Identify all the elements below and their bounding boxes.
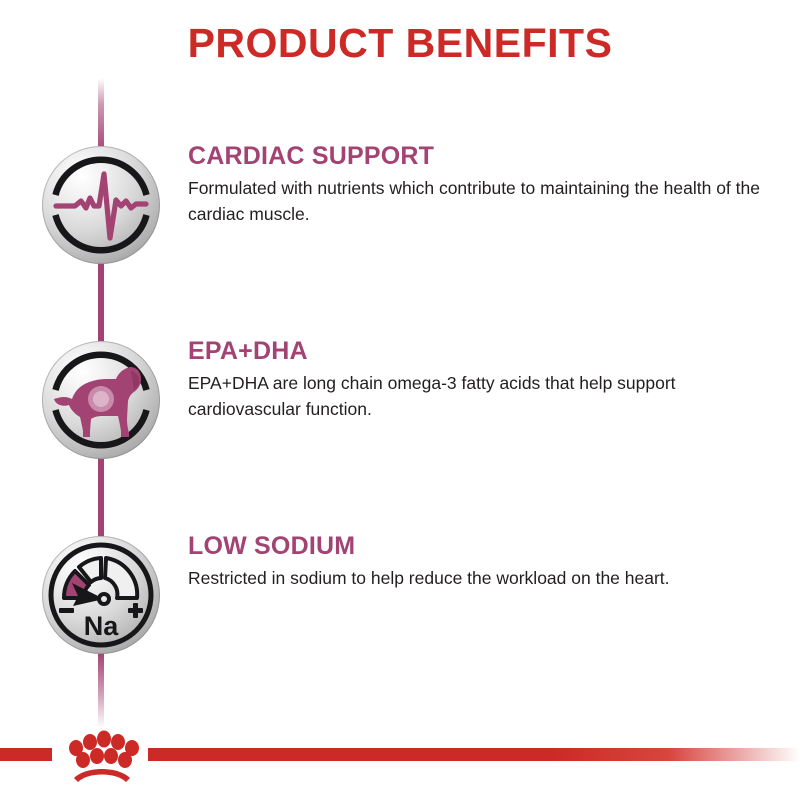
ecg-heartbeat-icon [42,146,160,264]
benefit-text-cardiac-support: CARDIAC SUPPORT Formulated with nutrient… [188,143,788,227]
benefit-item-cardiac-support: CARDIAC SUPPORT Formulated with nutrient… [0,143,800,273]
benefit-body: Formulated with nutrients which contribu… [188,176,782,227]
sodium-symbol-label: Na [84,611,119,641]
brand-bar-left-segment [0,748,52,761]
benefit-heading: LOW SODIUM [188,533,788,559]
page-title: PRODUCT BENEFITS [0,20,800,67]
benefit-heading: EPA+DHA [188,338,788,364]
benefit-text-epa-dha: EPA+DHA EPA+DHA are long chain omega-3 f… [188,338,788,422]
brand-footer-bar [0,744,800,766]
benefit-body: EPA+DHA are long chain omega-3 fatty aci… [188,371,782,422]
product-benefits-infographic: PRODUCT BENEFITS CARDIAC SUPPORT Formula… [0,0,800,800]
sodium-gauge-icon: Na [42,536,160,654]
connector-line-bottom [98,653,104,728]
benefit-text-low-sodium: LOW SODIUM Restricted in sodium to help … [188,533,788,592]
benefit-heading: CARDIAC SUPPORT [188,143,788,169]
benefit-body: Restricted in sodium to help reduce the … [188,566,782,592]
benefit-item-low-sodium: Na LOW SODIUM Restricted in sodium to he… [0,533,800,663]
dog-silhouette-icon [42,341,160,459]
royal-canin-crown-logo [56,724,148,784]
benefit-item-epa-dha: EPA+DHA EPA+DHA are long chain omega-3 f… [0,338,800,468]
brand-bar-right-segment [148,748,800,761]
